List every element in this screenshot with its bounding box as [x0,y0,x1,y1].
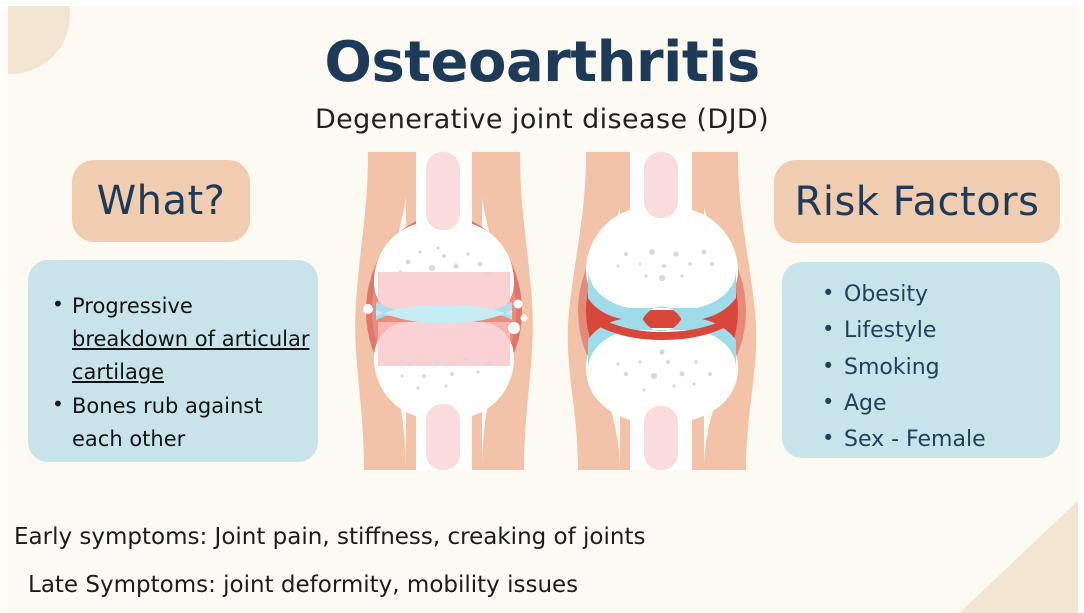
list-item: Sex - Female [820,422,1060,458]
top-edge-margin [0,0,1084,6]
what-section-label: What? [97,178,226,224]
osteoarthritic-knee-diagram [564,152,760,470]
risk-factors-section-label: Risk Factors [795,179,1040,225]
healthy-knee-diagram [348,152,540,470]
what-list: Progressive breakdown of articular carti… [50,290,312,456]
what-item-0-lead: Progressive [72,294,193,318]
femur-marrow [426,152,460,230]
late-symptoms-text: Late Symptoms: joint deformity, mobility… [28,572,578,598]
what-item-1-lead: Bones rub against each other [72,394,262,451]
tibia-marrow [426,404,460,470]
risk-factors-section-header: Risk Factors [774,160,1060,243]
list-item: Age [820,386,1060,422]
what-item-0-underlined: breakdown of articular cartilage [72,327,309,384]
list-item: Bones rub against each other [50,390,312,456]
page-title: Osteoarthritis [0,30,1084,95]
list-item: Lifestyle [820,313,1060,349]
page-subtitle: Degenerative joint disease (DJD) [0,104,1084,135]
decorative-triangle-bottom-right [924,495,1084,613]
tibia-growth-plate [378,322,510,366]
what-content-card: Progressive breakdown of articular carti… [28,260,318,462]
left-edge-margin [0,0,8,613]
list-item: Smoking [820,350,1060,386]
slide-canvas: Osteoarthritis Degenerative joint diseas… [0,0,1084,613]
list-item: Obesity [820,277,1060,313]
right-edge-margin [1078,0,1084,613]
list-item: Progressive breakdown of articular carti… [50,290,312,390]
early-symptoms-text: Early symptoms: Joint pain, stiffness, c… [14,524,645,550]
femur-marrow [644,152,678,218]
risk-factors-content-card: Obesity Lifestyle Smoking Age Sex - Fema… [782,262,1060,458]
what-section-header: What? [72,160,250,242]
tibia-marrow [644,406,678,470]
risk-factors-list: Obesity Lifestyle Smoking Age Sex - Fema… [820,277,1060,458]
